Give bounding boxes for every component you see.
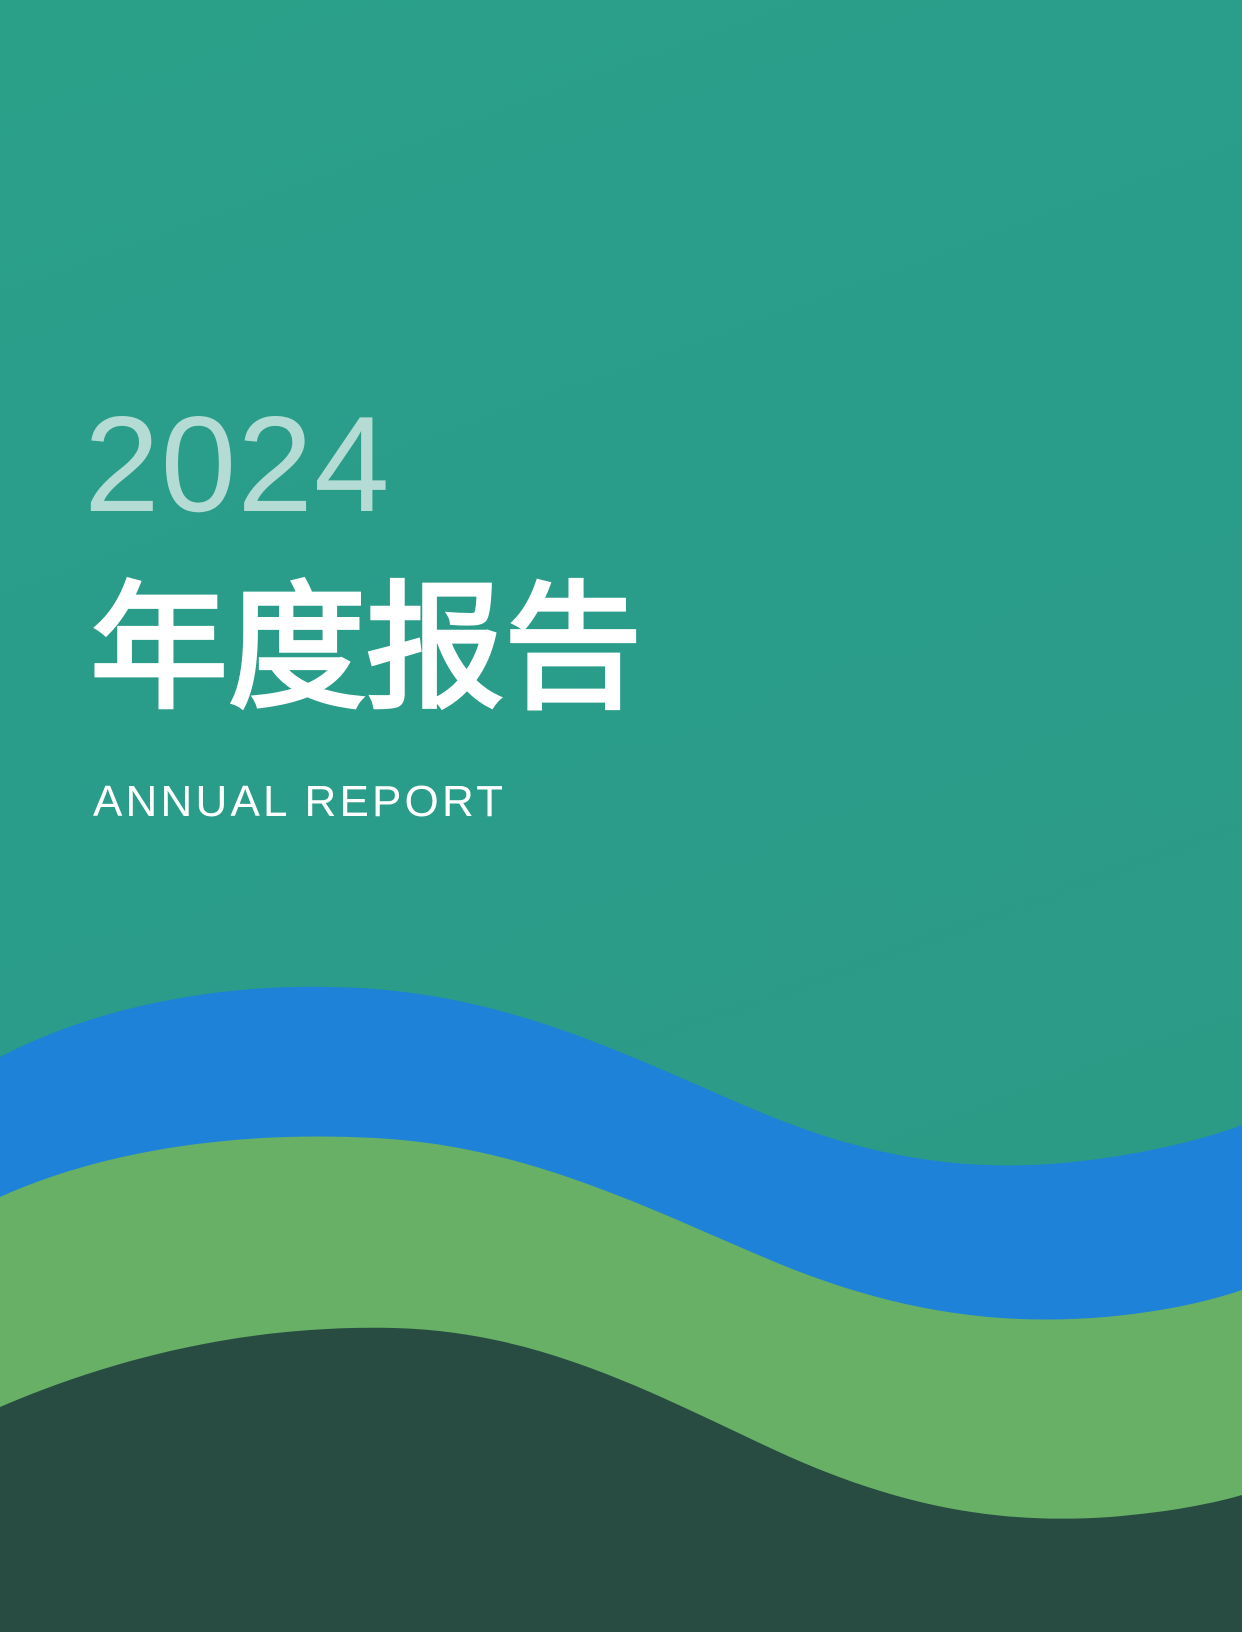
page-subtitle: ANNUAL REPORT [93,780,986,824]
annual-report-cover-page: 2024 年度报告 ANNUAL REPORT [0,0,1242,1632]
cover-title-block: 2024 年度报告 ANNUAL REPORT [86,396,986,824]
page-title: 年度报告 [90,580,986,718]
decorative-wave-graphic [0,932,1242,1632]
report-year: 2024 [84,396,986,532]
